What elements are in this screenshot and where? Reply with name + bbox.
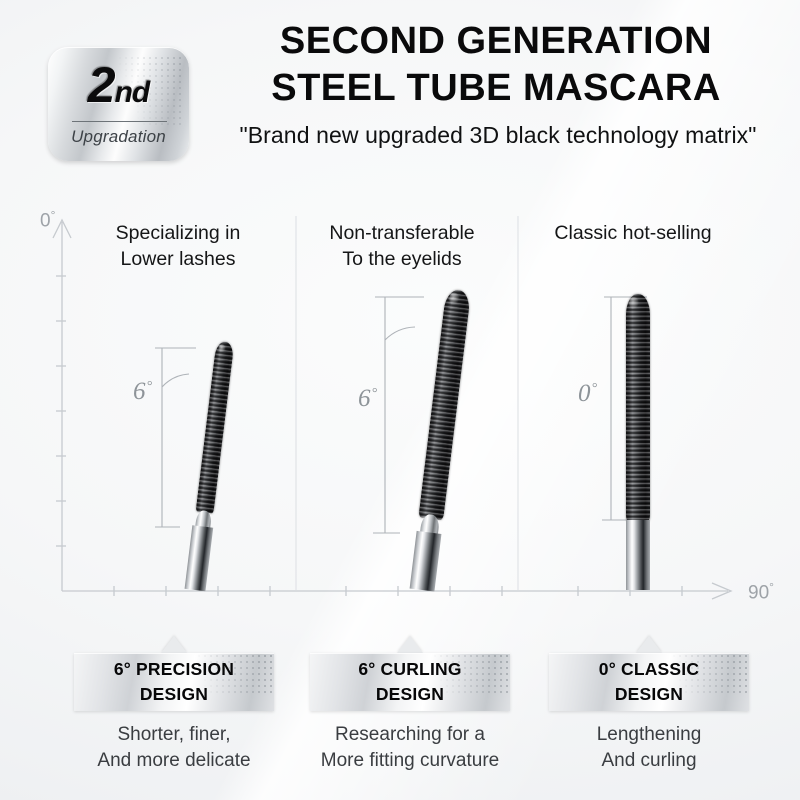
angle-value-1: 6 bbox=[133, 378, 146, 405]
angle-label-wand-3: 0° bbox=[578, 380, 597, 408]
column-heading-1-line-1: Specializing in bbox=[63, 220, 293, 246]
angle-label-wand-1: 6° bbox=[133, 378, 152, 406]
degree-symbol-icon: ° bbox=[372, 386, 378, 401]
page-subtitle: "Brand new upgraded 3D black technology … bbox=[196, 122, 800, 149]
card-description: Lengthening And curling bbox=[531, 722, 767, 774]
card-title-line-1: 0° CLASSIC bbox=[549, 657, 749, 682]
badge-sub-label: Upgradation bbox=[48, 127, 189, 147]
card-title-line-1: 6° CURLING bbox=[310, 657, 510, 682]
card-title: 6° CURLING DESIGN bbox=[310, 653, 510, 707]
y-axis-value: 0 bbox=[40, 210, 51, 231]
card-desc-line-1: Shorter, finer, bbox=[56, 722, 292, 748]
degree-symbol-icon: ° bbox=[51, 208, 56, 222]
card-desc-line-1: Lengthening bbox=[531, 722, 767, 748]
mascara-wand-3 bbox=[608, 290, 668, 590]
x-axis-label: 90° bbox=[748, 580, 774, 604]
column-heading-2-line-2: To the eyelids bbox=[287, 246, 517, 272]
angle-value-3: 0 bbox=[578, 380, 591, 407]
header-section: 2nd Upgradation SECOND GENERATION STEEL … bbox=[0, 0, 800, 178]
wand-1-brush-head bbox=[196, 341, 235, 514]
mascara-wand-2 bbox=[382, 288, 462, 590]
title-line-2: STEEL TUBE MASCARA bbox=[196, 65, 796, 112]
angle-value-2: 6 bbox=[358, 385, 371, 412]
mascara-wand-1 bbox=[160, 340, 230, 590]
second-generation-badge: 2nd Upgradation bbox=[48, 47, 189, 161]
card-desc-line-1: Researching for a bbox=[292, 722, 528, 748]
title-line-1: SECOND GENERATION bbox=[196, 18, 796, 65]
card-title: 0° CLASSIC DESIGN bbox=[549, 653, 749, 707]
card-title-line-1: 6° PRECISION bbox=[74, 657, 274, 682]
page-title: SECOND GENERATION STEEL TUBE MASCARA bbox=[196, 18, 796, 112]
card-notch-triangle-icon bbox=[161, 636, 187, 653]
y-axis bbox=[53, 220, 71, 591]
card-notch-triangle-icon bbox=[397, 636, 423, 653]
card-notch-triangle-icon bbox=[636, 636, 662, 653]
card-title: 6° PRECISION DESIGN bbox=[74, 653, 274, 707]
wand-2-handle bbox=[410, 531, 442, 592]
column-heading-3: Classic hot-selling bbox=[518, 220, 748, 246]
card-desc-line-2: More fitting curvature bbox=[292, 748, 528, 774]
angle-comparison-chart: 0° 90° Specializing in Lower lashes Non-… bbox=[0, 180, 800, 630]
y-axis-label: 0° bbox=[40, 208, 55, 232]
column-heading-2: Non-transferable To the eyelids bbox=[287, 220, 517, 272]
column-heading-2-line-1: Non-transferable bbox=[287, 220, 517, 246]
card-desc-line-2: And more delicate bbox=[56, 748, 292, 774]
degree-symbol-icon: ° bbox=[769, 580, 774, 594]
wand-3-handle bbox=[626, 520, 650, 590]
card-desc-line-2: And curling bbox=[531, 748, 767, 774]
badge-main-text: 2nd bbox=[48, 54, 189, 124]
card-plate: 6° PRECISION DESIGN bbox=[74, 653, 274, 711]
infographic-page: 2nd Upgradation SECOND GENERATION STEEL … bbox=[0, 0, 800, 800]
card-description: Researching for a More fitting curvature bbox=[292, 722, 528, 774]
card-plate: 6° CURLING DESIGN bbox=[310, 653, 510, 711]
angle-label-wand-2: 6° bbox=[358, 385, 377, 413]
column-heading-1: Specializing in Lower lashes bbox=[63, 220, 293, 272]
card-title-line-2: DESIGN bbox=[310, 682, 510, 707]
degree-symbol-icon: ° bbox=[592, 381, 598, 396]
card-title-line-2: DESIGN bbox=[549, 682, 749, 707]
wand-2-brush-head bbox=[418, 289, 471, 520]
column-heading-1-line-2: Lower lashes bbox=[63, 246, 293, 272]
degree-symbol-icon: ° bbox=[147, 379, 153, 394]
column-heading-3-line-1: Classic hot-selling bbox=[518, 220, 748, 246]
badge-ordinal: nd bbox=[115, 76, 150, 109]
card-description: Shorter, finer, And more delicate bbox=[56, 722, 292, 774]
wand-1-handle bbox=[185, 525, 214, 591]
badge-number: 2 bbox=[88, 57, 115, 113]
wand-3-brush-head bbox=[626, 294, 650, 522]
feature-cards-section: 6° PRECISION DESIGN Shorter, finer, And … bbox=[0, 636, 800, 800]
card-plate: 0° CLASSIC DESIGN bbox=[549, 653, 749, 711]
card-title-line-2: DESIGN bbox=[74, 682, 274, 707]
badge-divider bbox=[72, 121, 167, 122]
